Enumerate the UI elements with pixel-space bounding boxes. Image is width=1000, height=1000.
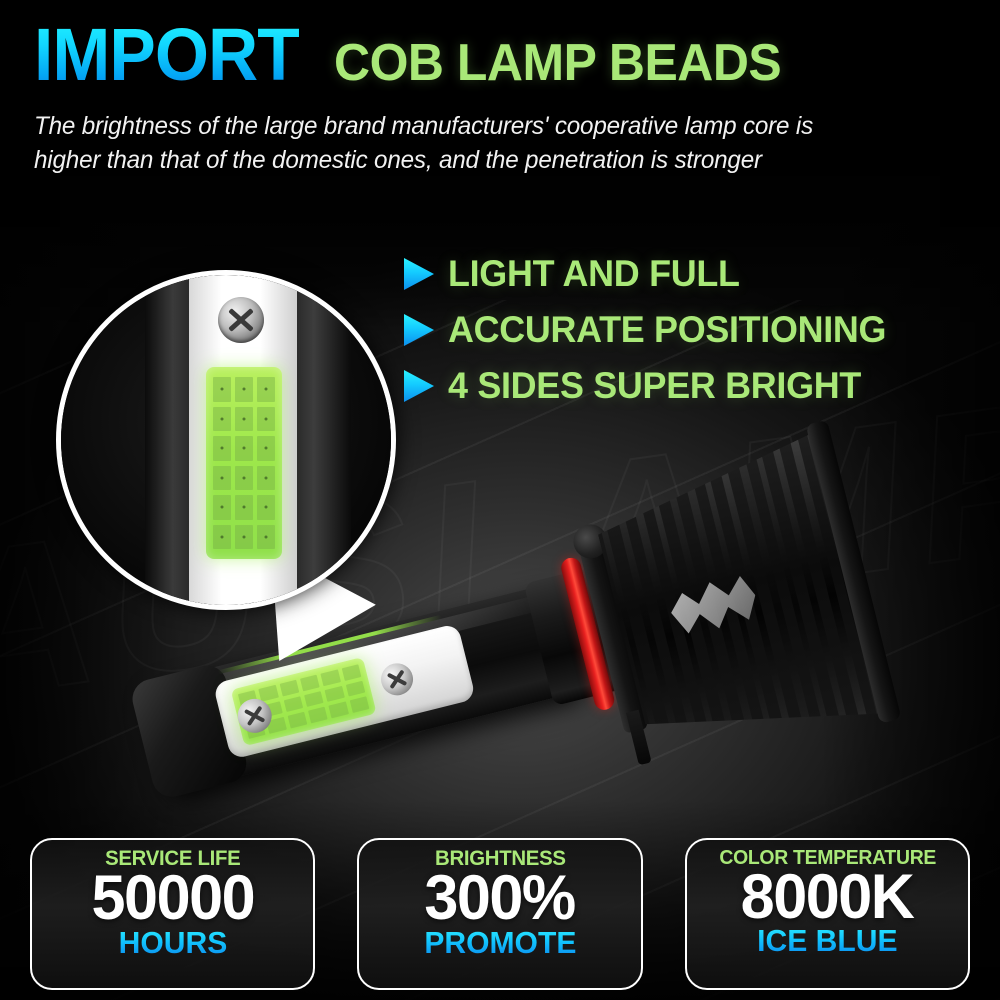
led-die: [257, 525, 275, 550]
cob-led-chip: [206, 367, 282, 559]
led-die: [287, 712, 307, 728]
spec-card-subtitle: PROMOTE: [424, 927, 576, 958]
led-die: [304, 691, 324, 707]
led-die: [279, 680, 299, 696]
led-die: [235, 525, 253, 550]
led-die: [345, 680, 365, 696]
subtitle-line-2: higher than that of the domestic ones, a…: [34, 144, 936, 178]
led-die: [235, 436, 253, 461]
header-subtitle: The brightness of the large brand manufa…: [34, 110, 936, 177]
title-cob-lamp-beads: COB LAMP BEADS: [334, 37, 781, 89]
led-die: [329, 702, 349, 718]
led-die: [213, 466, 231, 491]
spec-card-list: SERVICE LIFE 50000 HOURS BRIGHTNESS 300%…: [0, 810, 1000, 1000]
spec-card-color-temperature[interactable]: COLOR TEMPERATURE 8000K ICE BLUE: [685, 838, 970, 990]
led-die: [235, 377, 253, 402]
led-die: [259, 685, 279, 701]
led-die: [213, 495, 231, 520]
magnifier-content: [61, 275, 391, 605]
led-die: [300, 675, 320, 691]
play-triangle-icon: [404, 258, 434, 290]
led-die: [341, 664, 361, 680]
led-die: [308, 707, 328, 723]
product-infographic: AUSLAMP IMPORT COB LAMP BEADS The bright…: [0, 0, 1000, 1000]
lamp-shell-right: [289, 275, 351, 605]
spec-card-brightness[interactable]: BRIGHTNESS 300% PROMOTE: [357, 838, 642, 990]
led-die: [213, 377, 231, 402]
spec-card-subtitle: ICE BLUE: [757, 925, 897, 956]
led-die: [321, 669, 341, 685]
led-die: [257, 436, 275, 461]
led-die: [235, 407, 253, 432]
spec-card-value: 50000: [91, 868, 254, 928]
led-die: [257, 495, 275, 520]
play-triangle-icon: [404, 314, 434, 346]
play-triangle-icon: [404, 370, 434, 402]
spec-card-subtitle: HOURS: [118, 927, 227, 958]
spec-card-value: 300%: [425, 868, 575, 928]
title-import: IMPORT: [34, 18, 299, 92]
led-die: [235, 495, 253, 520]
led-die: [257, 377, 275, 402]
spec-card-value: 8000K: [741, 867, 914, 927]
led-die: [283, 696, 303, 712]
led-die: [235, 466, 253, 491]
feature-label-2: ACCURATE POSITIONING: [448, 309, 886, 351]
header: IMPORT COB LAMP BEADS The brightness of …: [0, 0, 1000, 185]
feature-item-2: ACCURATE POSITIONING: [404, 302, 900, 358]
led-die: [349, 697, 369, 713]
led-die: [213, 436, 231, 461]
feature-item-3: 4 SIDES SUPER BRIGHT: [404, 358, 900, 414]
led-die: [325, 686, 345, 702]
led-die: [257, 466, 275, 491]
page-title: IMPORT COB LAMP BEADS: [34, 18, 800, 92]
feature-label-3: 4 SIDES SUPER BRIGHT: [448, 365, 861, 407]
led-die: [257, 407, 275, 432]
subtitle-line-1: The brightness of the large brand manufa…: [34, 110, 936, 144]
led-die: [213, 407, 231, 432]
feature-list: LIGHT AND FULL ACCURATE POSITIONING 4 SI…: [404, 246, 900, 414]
feature-label-1: LIGHT AND FULL: [448, 253, 740, 295]
cob-chip-magnified-view: [56, 270, 396, 610]
led-die: [213, 525, 231, 550]
feature-item-1: LIGHT AND FULL: [404, 246, 900, 302]
phillips-screw-icon: [218, 297, 264, 343]
spec-card-service-life[interactable]: SERVICE LIFE 50000 HOURS: [30, 838, 315, 990]
